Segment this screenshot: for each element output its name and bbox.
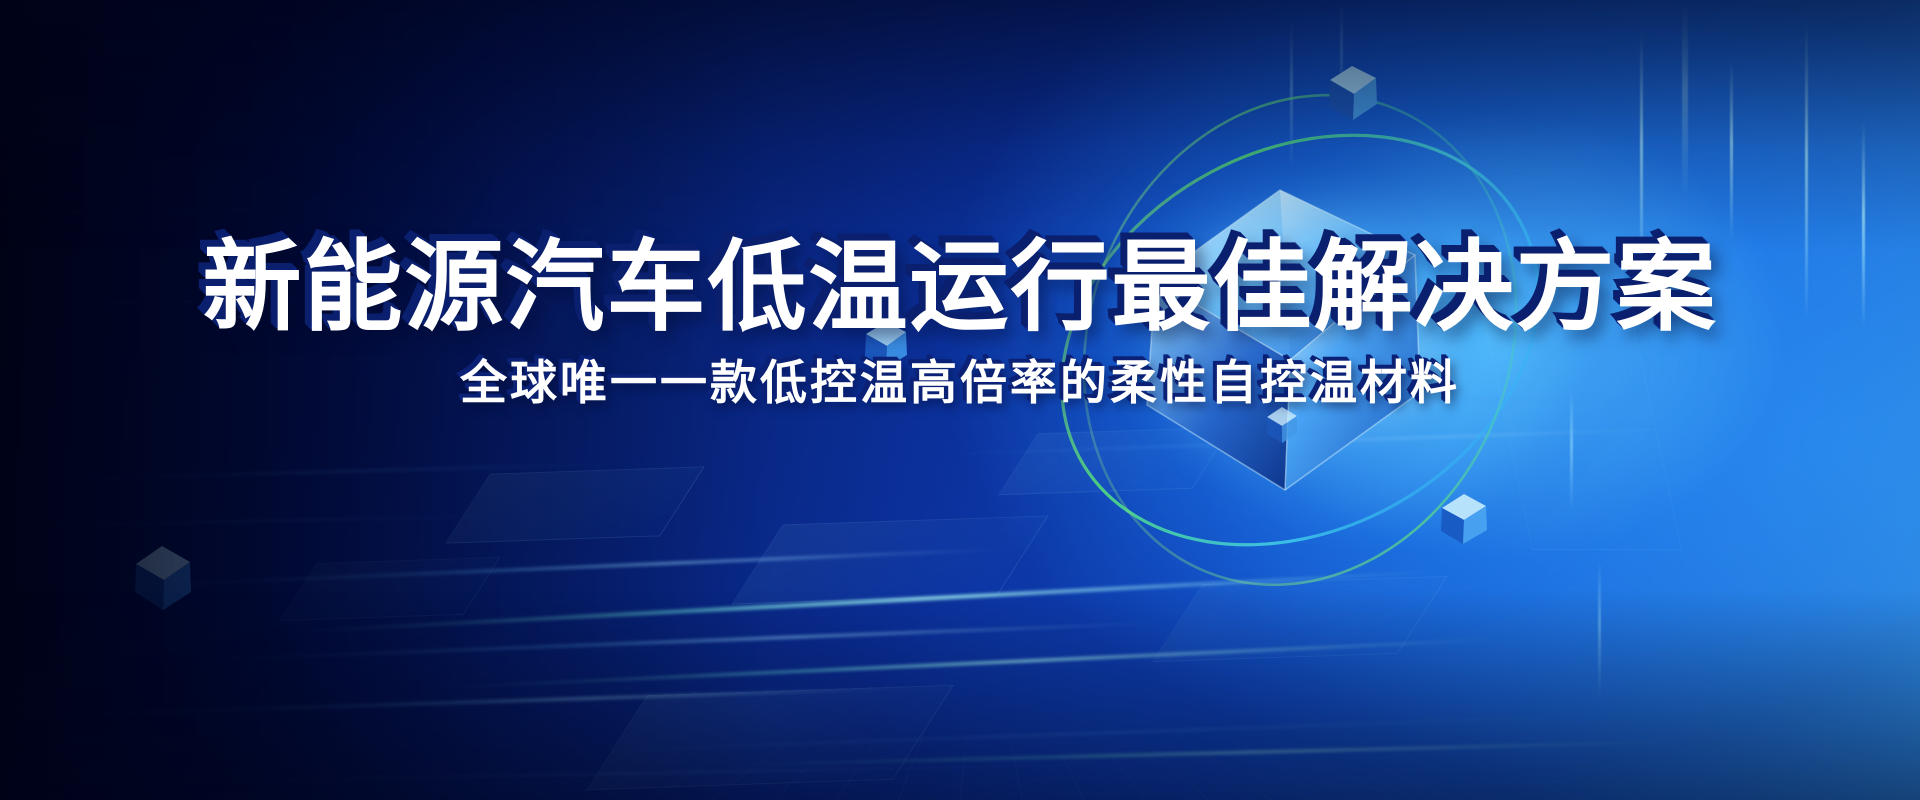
- vertical-light-bar: [1290, 20, 1293, 170]
- translucent-panel: [586, 685, 954, 790]
- headline-block: 新能源汽车低温运行最佳解决方案 全球唯一一款低控温高倍率的柔性自控温材料: [0, 0, 1920, 800]
- grid-lines: [0, 709, 1920, 800]
- light-streak: [60, 686, 920, 716]
- translucent-panel: [1152, 576, 1447, 662]
- vertical-light-bar: [1730, 60, 1733, 240]
- hero-banner: 新能源汽车低温运行最佳解决方案 全球唯一一款低控温高倍率的柔性自控温材料: [0, 0, 1920, 800]
- light-streak: [900, 426, 1720, 458]
- translucent-panel: [731, 515, 1048, 604]
- light-streak: [120, 547, 1019, 588]
- vertical-light-bar: [1598, 560, 1601, 700]
- vertical-light-bar: [1682, 0, 1688, 200]
- light-streak: [520, 708, 1769, 755]
- translucent-panel: [998, 427, 1232, 496]
- floating-cube: [128, 540, 198, 614]
- floating-cube-svg: [1322, 62, 1382, 124]
- banner-title: 新能源汽车低温运行最佳解决方案: [0, 236, 1920, 340]
- light-streak: [200, 764, 1100, 782]
- floating-cube-svg: [1436, 490, 1492, 548]
- translucent-panel: [279, 557, 500, 621]
- banner-subtitle: 全球唯一一款低控温高倍率的柔性自控温材料: [0, 356, 1920, 412]
- floating-cube: [1322, 62, 1382, 124]
- light-streak: [0, 207, 360, 214]
- light-streak: [420, 637, 1519, 690]
- bottom-vignette: [0, 590, 1920, 800]
- floating-cube-svg: [128, 540, 198, 614]
- light-streak: [700, 740, 1700, 767]
- light-streak: [261, 569, 1460, 636]
- light-streak: [180, 621, 1179, 662]
- translucent-panel: [445, 466, 705, 543]
- floating-cube: [1436, 490, 1492, 548]
- light-streak: [0, 515, 520, 528]
- perspective-grid: [0, 370, 1920, 800]
- light-streak: [30, 461, 650, 481]
- top-vignette: [0, 0, 1920, 250]
